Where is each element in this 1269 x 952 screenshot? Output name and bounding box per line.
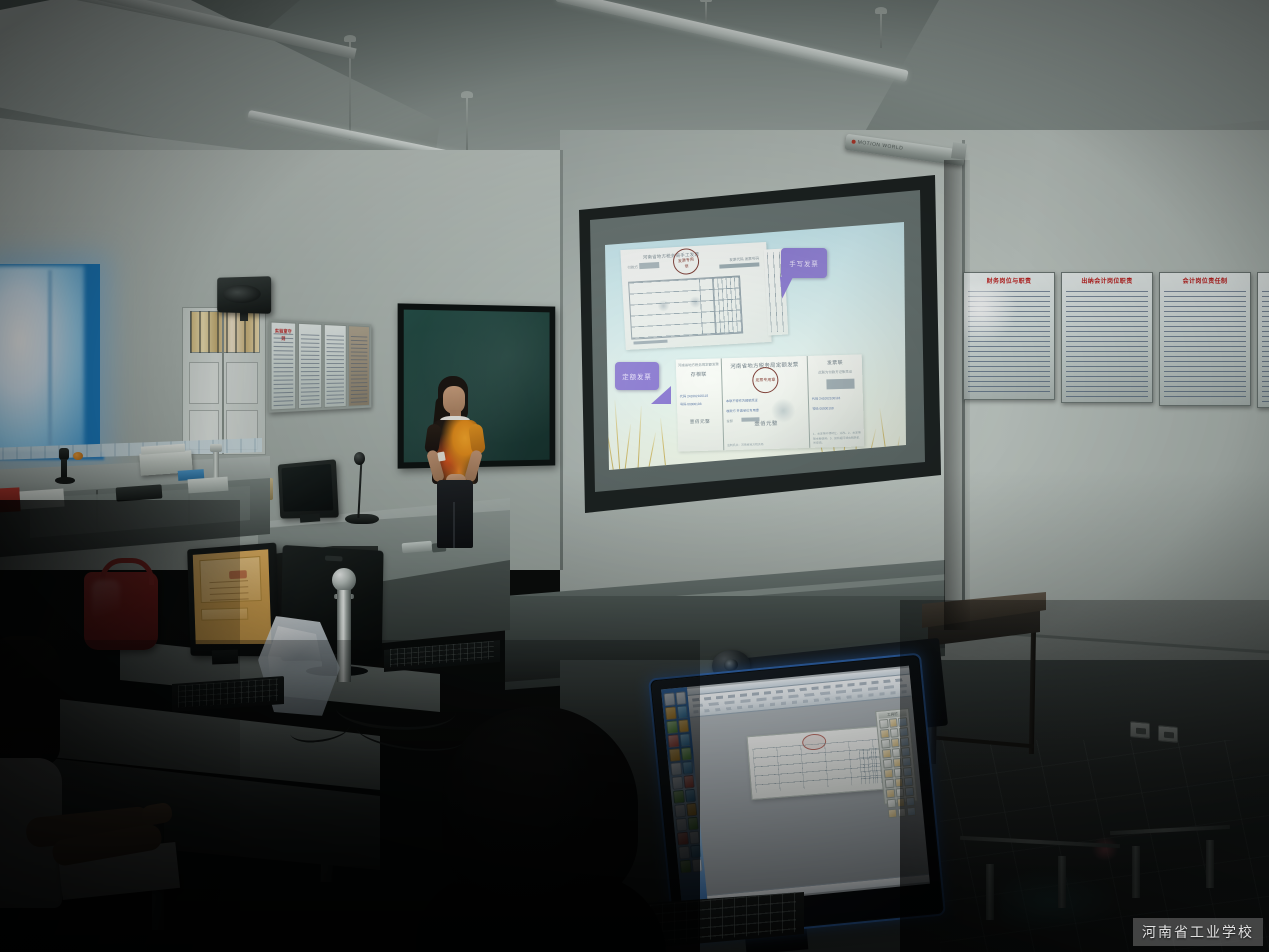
rail-post — [1206, 840, 1214, 888]
faucet-head — [210, 444, 222, 452]
poster-glass-glare — [963, 283, 1018, 343]
screen-document — [199, 556, 261, 603]
slide-callout-label: 手写发票 — [789, 259, 819, 268]
slide-handwritten-invoice-image: 河南省地方税务局手工发票 发票代码 发票号码 付款方 发票专用章 — [620, 242, 771, 350]
microscope — [56, 448, 72, 482]
monitor-stand — [300, 513, 321, 522]
red-container — [0, 487, 21, 512]
teacher-trousers — [437, 480, 473, 548]
wall-poster-title: 会计岗位责任制 — [1163, 278, 1247, 287]
post-ball-finial — [332, 568, 356, 592]
invoice-amount-block — [826, 379, 854, 390]
wall-poster — [298, 323, 322, 409]
invoice-panel-fineprint: 1、本发票不得转让、涂改。2、本发票限本省使用。3、如有疑问请向税务机关查询。 — [813, 431, 861, 445]
invoice-footer-field — [633, 340, 667, 345]
floor-object — [1090, 838, 1120, 860]
wall-poster: 出纳会计岗位职责 — [1061, 272, 1153, 403]
slide-callout-handwritten-invoice: 手写发票 — [781, 248, 827, 278]
rail-post — [1058, 856, 1066, 908]
invoice-field-label: 付款方 — [627, 265, 638, 271]
microphone-head[interactable] — [354, 452, 365, 465]
light-hanger-rod — [880, 12, 882, 48]
wall-poster — [324, 324, 347, 408]
door-panel — [226, 362, 258, 404]
invoice-panel-fineprint — [681, 447, 720, 448]
invoice-panel-center: 河南省地方税务局定额发票 发票专用章 本联不得作为报销凭证 收款方 开票单位专用… — [722, 356, 811, 450]
rail-post — [986, 864, 994, 920]
wall-poster — [348, 325, 369, 407]
door-center-stile — [222, 308, 224, 454]
microphone-base — [345, 514, 379, 524]
invoice-panel-subtitle: 此联为付款方记账凭证 — [810, 368, 860, 374]
wall-poster: 实验室守则 — [271, 321, 297, 410]
invoice-code-bar — [719, 262, 759, 268]
invoice-stamp-text: 发票专用章 — [755, 377, 775, 384]
window-mullion — [48, 270, 52, 446]
invoice-red-stamp: 发票专用章 — [752, 367, 779, 394]
invoice-panel-right: 发票联 此联为付款方记账凭证 代码 241002100118 号码 000001… — [808, 354, 865, 447]
microscope-arm — [61, 459, 67, 479]
microscope-base — [55, 477, 75, 484]
classroom-photo: 实验室守则 财务岗位与职责 出纳会计岗位职责 会计岗位责任制 — [0, 0, 1269, 952]
invoice-panel-amount: 壹佰元整 — [725, 418, 806, 428]
screen-document-secondary — [201, 608, 248, 621]
light-hanger-rod — [466, 96, 468, 154]
invoice-panel-row: 本联不得作为报销凭证 — [726, 397, 758, 403]
teacher-id-badge — [437, 451, 445, 461]
faucet-column — [213, 450, 219, 478]
teacher — [424, 376, 486, 548]
photo-watermark: 河南省工业学校 — [1133, 918, 1263, 946]
document-stamp — [229, 570, 247, 579]
wall-poster — [1257, 272, 1269, 408]
power-outlet[interactable] — [1158, 725, 1178, 743]
slide-fixed-amount-invoice-image: 河南省地方税务局定额发票 存根联 代码 241002100118 号码 0000… — [676, 354, 864, 451]
monitor-screen — [193, 549, 272, 644]
invoice-stamp-text: 发票专用章 — [677, 256, 696, 270]
invoice-amount-columns — [712, 276, 743, 335]
invoice-panel-row: 代码 241002100118 — [812, 395, 840, 401]
invoice-panel-title: 存根联 — [678, 370, 719, 378]
invoice-panel-stub: 河南省地方税务局定额发票 存根联 代码 241002100118 号码 0000… — [676, 358, 725, 451]
wall-poster-text-lines — [351, 336, 367, 403]
rail-post — [1132, 846, 1140, 898]
invoice-panel-row: 代码 241002100118 — [680, 393, 708, 399]
bench-faucet[interactable] — [210, 444, 222, 478]
invoice-panel-row: 号码 00000108 — [680, 401, 702, 407]
slide-callout-label: 定额发票 — [622, 372, 652, 381]
projector-screen-bracket — [951, 142, 967, 160]
teacher-monitor[interactable] — [278, 459, 339, 518]
student-hand — [140, 802, 173, 827]
door-grille — [190, 311, 260, 353]
wall-poster-text-lines — [327, 335, 344, 404]
monitor-stand — [212, 650, 238, 665]
invoice-panel-row: 号码 00000108 — [812, 405, 834, 411]
door-panel — [189, 362, 219, 404]
wall-poster-text-lines — [301, 334, 320, 405]
roller-brand-dot — [851, 140, 856, 145]
wall-poster-text-lines — [1164, 291, 1246, 401]
orange-object — [73, 452, 83, 460]
wall-poster-group-right: 财务岗位与职责 出纳会计岗位职责 会计岗位责任制 — [963, 272, 1269, 418]
wall-poster-title: 出纳会计岗位职责 — [1065, 278, 1149, 287]
student-monitor-document[interactable] — [187, 542, 280, 656]
student-foreground — [426, 706, 656, 952]
invoice-panel-head: 河南省地方税务局定额发票 — [678, 361, 719, 367]
wall-poster: 会计岗位责任制 — [1159, 272, 1251, 406]
window-daylight-glow — [0, 266, 84, 452]
paper-stack — [19, 488, 64, 509]
light-hanger-rod — [705, 0, 707, 26]
document-text-lines — [209, 580, 248, 606]
handbag-highlight — [92, 580, 120, 630]
invoice-panel-row: 收款方 开票单位专用章 — [726, 407, 759, 413]
wall-speaker — [217, 276, 271, 314]
power-outlet[interactable] — [1130, 721, 1150, 739]
wall-poster: 财务岗位与职责 — [963, 272, 1055, 400]
bench-tray — [188, 477, 229, 494]
invoice-panel-fineprint: 监制机关：河南省地方税务局 — [727, 441, 806, 447]
roller-brand-label: MOTION WORLD — [857, 139, 903, 151]
student-left — [0, 636, 190, 952]
invoice-panel-title: 发票联 — [810, 358, 860, 366]
wall-poster-text-lines — [274, 333, 294, 406]
wall-poster-group-left: 实验室守则 — [269, 319, 372, 413]
student-head-silhouette — [442, 706, 638, 906]
wall-poster-text-lines — [1066, 291, 1148, 398]
slide-callout-fixed-amount-invoice: 定额发票 — [615, 362, 659, 390]
projected-slide: 河南省地方税务局手工发票 发票代码 发票号码 付款方 发票专用章 河南省地方税务… — [603, 222, 906, 470]
wall-poster-text-lines — [1262, 291, 1269, 403]
invoice-panel-amount: 壹佰元整 — [679, 418, 720, 425]
invoice-field-value — [639, 262, 659, 269]
